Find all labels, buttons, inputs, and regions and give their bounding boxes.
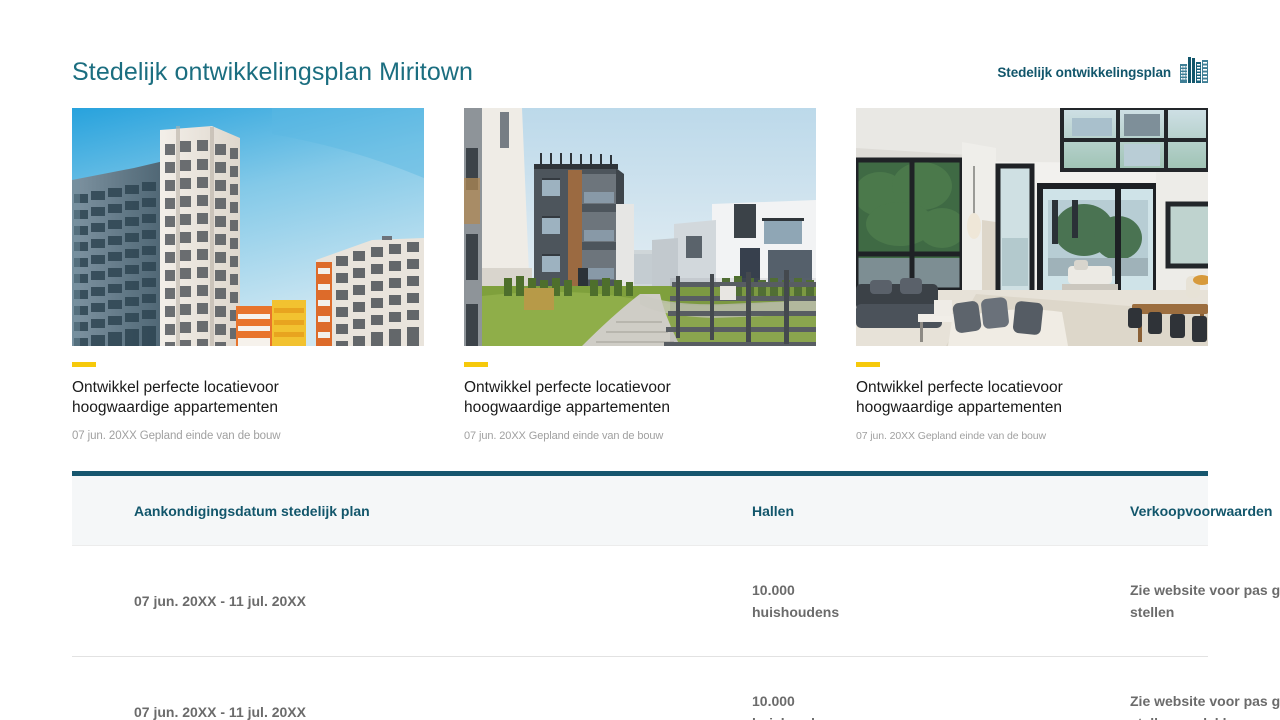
high-rise-apartment-towers-photo <box>72 108 424 346</box>
cell-value: 07 jun. 20XX - 11 jul. 20XX <box>134 701 412 720</box>
column-header-label: Verkoopvoorwaarden <box>1130 502 1280 520</box>
card-meta: 07 jun. 20XX Gepland einde van de bouw <box>856 430 1208 442</box>
project-card[interactable]: Ontwikkel perfecte locatievoor hoogwaard… <box>856 108 1208 442</box>
table-row[interactable]: 07 jun. 20XX - 11 jul. 20XX 10.000 huish… <box>72 657 1208 720</box>
table-header-row: Aankondigingsdatum stedelijk plan Hallen… <box>72 474 1208 546</box>
column-header-aankondigingsdatum: Aankondigingsdatum stedelijk plan <box>72 474 412 546</box>
card-meta: 07 jun. 20XX Gepland einde van de bouw <box>72 430 424 442</box>
page-root: Stedelijk ontwikkelingsplan Miritown Ste… <box>0 0 1280 720</box>
building-skyline-icon <box>1180 57 1208 88</box>
modern-interior-lounge-photo <box>856 108 1208 346</box>
cell-value: 07 jun. 20XX - 11 jul. 20XX <box>134 590 412 612</box>
card-title: Ontwikkel perfecte locatievoor hoogwaard… <box>464 378 764 418</box>
schedule-table: Aankondigingsdatum stedelijk plan Hallen… <box>72 471 1208 720</box>
column-header-hallen: Hallen <box>412 474 601 546</box>
cell-hallen: 10.000 huishoudens <box>412 546 601 657</box>
cell-datum: 07 jun. 20XX - 11 jul. 20XX <box>72 546 412 657</box>
project-card[interactable]: Ontwikkel perfecte locatievoor hoogwaard… <box>464 108 816 442</box>
card-grid: Ontwikkel perfecte locatievoor hoogwaard… <box>72 108 1208 442</box>
project-card[interactable]: Ontwikkel perfecte locatievoor hoogwaard… <box>72 108 424 442</box>
card-meta: 07 jun. 20XX Gepland einde van de bouw <box>464 430 816 442</box>
cell-voorwaarden: Zie website voor pas getrouwde stellen <box>601 546 926 657</box>
page-title: Stedelijk ontwikkelingsplan Miritown <box>72 58 473 87</box>
card-title: Ontwikkel perfecte locatievoor hoogwaard… <box>856 378 1156 418</box>
cell-value: Zie website voor pas getrouwde stellen e… <box>1130 690 1280 720</box>
brand-label: Stedelijk ontwikkelingsplan <box>997 65 1171 80</box>
low-rise-residential-street-photo <box>464 108 816 346</box>
cell-hallen: 10.000 huishoudens <box>412 657 601 720</box>
brand-lockup: Stedelijk ontwikkelingsplan <box>997 57 1208 88</box>
cell-datum: 07 jun. 20XX - 11 jul. 20XX <box>72 657 412 720</box>
accent-bar <box>856 362 880 367</box>
page-header: Stedelijk ontwikkelingsplan Miritown Ste… <box>72 50 1208 94</box>
accent-bar <box>464 362 488 367</box>
table-row[interactable]: 07 jun. 20XX - 11 jul. 20XX 10.000 huish… <box>72 546 1208 657</box>
accent-bar <box>72 362 96 367</box>
card-title: Ontwikkel perfecte locatievoor hoogwaard… <box>72 378 372 418</box>
cell-voorwaarden: Zie website voor pas getrouwde stellen e… <box>601 657 926 720</box>
column-header-label: Aankondigingsdatum stedelijk plan <box>134 502 412 520</box>
